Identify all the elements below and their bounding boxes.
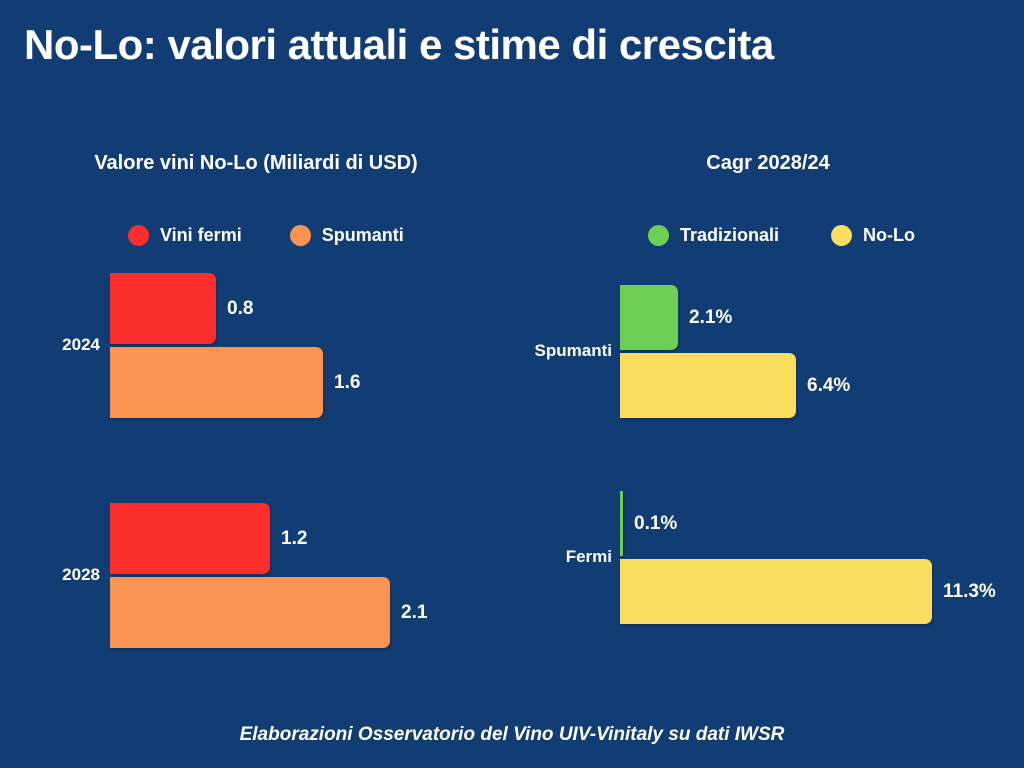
table-row: 0.1% xyxy=(620,491,677,556)
bar-spumanti-tradizionali[interactable] xyxy=(620,285,678,350)
group-label-spumanti: Spumanti xyxy=(512,341,612,361)
bar-value-2028-spumanti: 2.1 xyxy=(401,602,427,624)
slide: No-Lo: valori attuali e stime di crescit… xyxy=(0,0,1024,768)
bar-2024-spumanti[interactable] xyxy=(110,347,323,418)
page-title: No-Lo: valori attuali e stime di crescit… xyxy=(24,22,1004,68)
bar-2028-spumanti[interactable] xyxy=(110,577,390,648)
group-label-fermi: Fermi xyxy=(512,547,612,567)
group-label-2024: 2024 xyxy=(0,335,100,355)
source-footer: Elaborazioni Osservatorio del Vino UIV-V… xyxy=(0,724,1024,746)
bar-2028-vini-fermi[interactable] xyxy=(110,503,270,574)
group-label-2028: 2028 xyxy=(0,565,100,585)
bar-fermi-no-lo[interactable] xyxy=(620,559,932,624)
bar-value-spumanti-no-lo: 6.4% xyxy=(807,375,850,397)
chart-left-plot: 2024 0.8 1.6 2028 1.2 xyxy=(0,130,512,690)
bar-value-fermi-no-lo: 11.3% xyxy=(943,581,996,603)
table-row: 6.4% xyxy=(620,353,850,418)
bar-2024-vini-fermi[interactable] xyxy=(110,273,216,344)
table-row: 0.8 xyxy=(110,273,253,344)
panel-cagr: Cagr 2028/24 Tradizionali No-Lo Spumanti… xyxy=(512,130,1024,690)
table-row: 11.3% xyxy=(620,559,996,624)
bar-value-fermi-tradizionali: 0.1% xyxy=(634,513,677,535)
bar-value-2024-spumanti: 1.6 xyxy=(334,372,360,394)
bar-spumanti-no-lo[interactable] xyxy=(620,353,796,418)
bar-fermi-tradizionali[interactable] xyxy=(620,491,623,556)
table-row: 1.6 xyxy=(110,347,360,418)
bar-value-spumanti-tradizionali: 2.1% xyxy=(689,307,732,329)
table-row: 2.1 xyxy=(110,577,427,648)
bar-value-2024-vini-fermi: 0.8 xyxy=(227,298,253,320)
table-row: 2.1% xyxy=(620,285,732,350)
bar-value-2028-vini-fermi: 1.2 xyxy=(281,528,307,550)
chart-right-plot: Spumanti 2.1% 6.4% Fermi 0.1% xyxy=(512,130,1024,690)
table-row: 1.2 xyxy=(110,503,307,574)
panel-valore-vini: Valore vini No-Lo (Miliardi di USD) Vini… xyxy=(0,130,512,690)
